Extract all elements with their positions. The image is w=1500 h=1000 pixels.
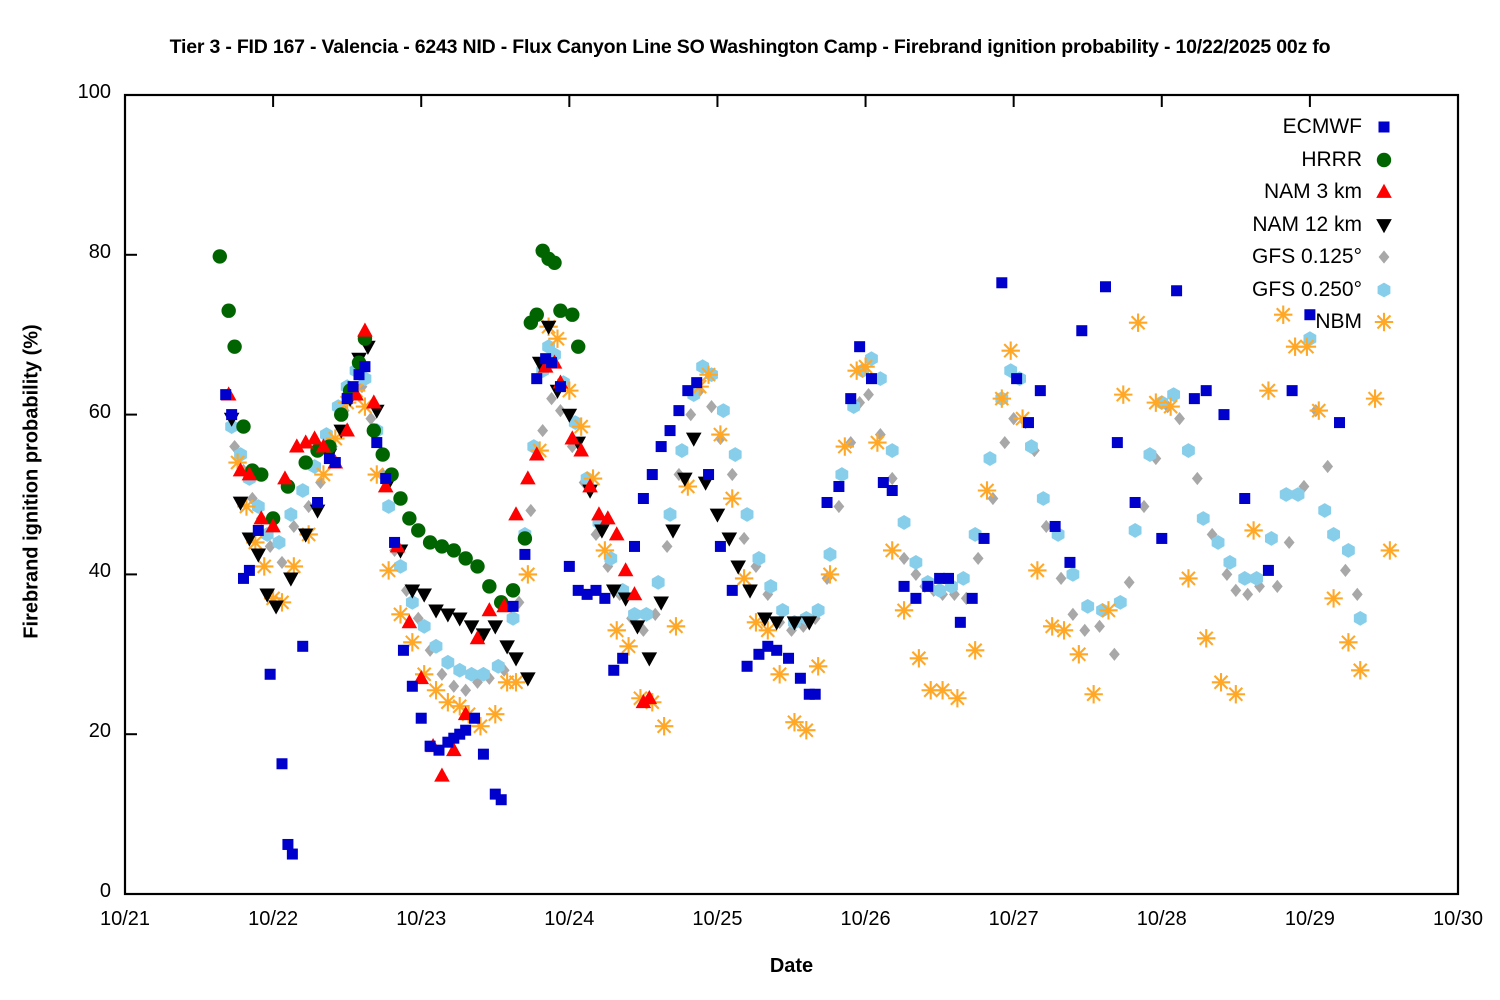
series-gfs-0-250 [225, 331, 1366, 681]
data-point [508, 652, 524, 666]
data-point [1094, 620, 1105, 633]
data-point [452, 612, 468, 626]
data-point [856, 357, 874, 375]
legend-label: HRRR [1301, 145, 1362, 175]
data-point [220, 389, 231, 400]
data-point [221, 304, 235, 318]
data-point [1084, 685, 1102, 703]
data-point [795, 673, 806, 684]
data-point [640, 607, 653, 622]
data-point [380, 473, 391, 484]
data-point [1070, 645, 1088, 663]
data-point [571, 339, 585, 353]
data-point [715, 541, 726, 552]
data-point [1265, 531, 1278, 546]
data-point [1340, 564, 1351, 577]
data-point [1129, 523, 1142, 538]
data-point [1147, 393, 1165, 411]
data-point [478, 749, 489, 760]
data-point [996, 277, 1007, 288]
scatter-plot [0, 0, 1500, 1000]
data-point [1322, 460, 1333, 473]
data-point [525, 504, 536, 517]
data-point [564, 561, 575, 572]
data-point [652, 575, 665, 590]
data-point [382, 499, 395, 514]
data-point [1366, 389, 1384, 407]
diamond-icon [1372, 242, 1396, 272]
data-point [1298, 337, 1316, 355]
x-tick-label: 10/25 [657, 908, 777, 931]
data-point [1324, 589, 1342, 607]
data-point [966, 641, 984, 659]
data-point [943, 573, 954, 584]
data-point [898, 515, 911, 530]
data-point [1218, 409, 1229, 420]
data-point [1067, 608, 1078, 621]
x-tick-label: 10/21 [65, 908, 185, 931]
data-point [910, 649, 928, 667]
data-point [833, 500, 844, 513]
data-point [1238, 571, 1251, 586]
data-point [1035, 385, 1046, 396]
y-tick-label: 20 [21, 720, 111, 743]
data-point [508, 506, 524, 520]
data-point [1023, 417, 1034, 428]
data-point [1284, 536, 1295, 549]
data-point [1037, 491, 1050, 506]
data-point [1334, 417, 1345, 428]
data-point [608, 665, 619, 676]
data-point [717, 403, 730, 418]
data-point [379, 561, 397, 579]
data-point [638, 493, 649, 504]
data-point [482, 579, 496, 593]
data-point [458, 551, 472, 565]
data-point [1050, 521, 1061, 532]
data-point [367, 423, 381, 437]
data-point [948, 689, 966, 707]
data-point [487, 620, 503, 634]
y-tick-label: 60 [21, 401, 111, 424]
data-point [537, 424, 548, 437]
y-tick-label: 40 [21, 560, 111, 583]
data-point [1156, 533, 1167, 544]
data-point [1197, 629, 1215, 647]
legend-label: NAM 12 km [1252, 210, 1362, 240]
data-point [447, 543, 461, 557]
data-point [978, 481, 996, 499]
data-point [402, 511, 416, 525]
data-point [555, 381, 566, 392]
data-point [519, 565, 537, 583]
data-point [821, 565, 839, 583]
data-point [1129, 314, 1147, 332]
data-point [1227, 685, 1245, 703]
x-tick-label: 10/30 [1398, 908, 1500, 931]
data-point [629, 541, 640, 552]
y-tick-label: 100 [21, 81, 111, 104]
data-point [922, 581, 933, 592]
data-point [665, 525, 681, 539]
data-point [665, 425, 676, 436]
data-point [609, 526, 625, 540]
data-point [706, 400, 717, 413]
data-point [1114, 385, 1132, 403]
data-point [822, 497, 833, 508]
asterisk-icon [1372, 307, 1396, 337]
data-point [1099, 601, 1117, 619]
data-point [1002, 341, 1020, 359]
data-point [1222, 568, 1233, 581]
data-point [1381, 541, 1399, 559]
data-point [357, 323, 373, 337]
data-point [899, 552, 910, 565]
data-point [1161, 397, 1179, 415]
data-point [284, 507, 297, 522]
data-point [1067, 567, 1080, 582]
data-point [1109, 648, 1120, 661]
data-point [1079, 624, 1090, 637]
data-point [824, 547, 837, 562]
data-point [334, 407, 348, 421]
y-tick-label: 80 [21, 241, 111, 264]
data-point [277, 470, 293, 484]
data-point [1114, 595, 1127, 610]
data-point [973, 552, 984, 565]
data-point [330, 457, 341, 468]
data-point [348, 381, 359, 392]
data-point [226, 409, 237, 420]
data-point [1244, 521, 1262, 539]
x-tick-label: 10/29 [1250, 908, 1370, 931]
data-point [741, 507, 754, 522]
data-point [1201, 385, 1212, 396]
data-point [596, 541, 614, 559]
data-point [547, 256, 561, 270]
data-point [1197, 511, 1210, 526]
data-point [1011, 373, 1022, 384]
data-point [656, 441, 667, 452]
data-point [711, 425, 729, 443]
data-point [1263, 565, 1274, 576]
data-point [833, 481, 844, 492]
y-tick-label: 0 [21, 880, 111, 903]
data-point [739, 532, 750, 545]
data-point [508, 601, 519, 612]
data-point [1327, 527, 1340, 542]
data-point [783, 653, 794, 664]
data-point [441, 655, 454, 670]
data-point [675, 443, 688, 458]
data-point [1259, 381, 1277, 399]
data-point [470, 559, 484, 573]
data-point [1112, 437, 1123, 448]
data-point [662, 540, 673, 553]
data-point [835, 467, 848, 482]
data-point [407, 681, 418, 692]
data-point [710, 509, 726, 523]
data-point [703, 469, 714, 480]
x-tick-label: 10/24 [509, 908, 629, 931]
data-point [727, 585, 738, 596]
data-point [1212, 673, 1230, 691]
data-point [518, 531, 532, 545]
data-point [797, 721, 815, 739]
data-point [520, 672, 536, 686]
data-point [519, 549, 530, 560]
data-point [899, 581, 910, 592]
data-point [244, 565, 255, 576]
data-point [866, 373, 877, 384]
data-point [393, 491, 407, 505]
data-point [394, 559, 407, 574]
data-point [507, 611, 520, 626]
data-point [771, 645, 782, 656]
data-point [1189, 393, 1200, 404]
data-point [312, 497, 323, 508]
data-point [845, 393, 856, 404]
data-point [411, 523, 425, 537]
data-point [742, 661, 753, 672]
data-point [283, 572, 299, 586]
data-point [967, 593, 978, 604]
data-point [296, 483, 309, 498]
data-point [910, 555, 923, 570]
legend-label: GFS 0.250° [1252, 275, 1362, 305]
data-point [1287, 385, 1298, 396]
data-point [993, 389, 1011, 407]
data-point [546, 357, 557, 368]
data-point [530, 308, 544, 322]
data-point [723, 489, 741, 507]
data-point [434, 768, 450, 782]
data-point [1242, 588, 1253, 601]
data-point [599, 593, 610, 604]
data-point [863, 388, 874, 401]
data-point [785, 713, 803, 731]
data-point [520, 470, 536, 484]
data-point [617, 653, 628, 664]
data-point [227, 339, 241, 353]
data-point [548, 329, 566, 347]
data-point [1192, 472, 1203, 485]
data-point [809, 657, 827, 675]
data-point [359, 361, 370, 372]
data-point [667, 617, 685, 635]
data-point [1351, 661, 1369, 679]
circle-icon [1372, 145, 1396, 175]
data-point [288, 520, 299, 533]
data-point [276, 758, 287, 769]
data-point [1130, 497, 1141, 508]
data-point [460, 684, 471, 697]
data-point [1056, 572, 1067, 585]
triangle-down-icon [1372, 210, 1396, 240]
data-point [565, 308, 579, 322]
data-point [957, 571, 970, 586]
data-point [655, 717, 673, 735]
data-point [886, 443, 899, 458]
data-point [1064, 557, 1075, 568]
data-point [673, 405, 684, 416]
data-point [1239, 493, 1250, 504]
legend-label: NBM [1315, 307, 1362, 337]
data-point [428, 604, 444, 618]
data-point [1100, 281, 1111, 292]
legend-label: GFS 0.125° [1252, 242, 1362, 272]
data-point [955, 617, 966, 628]
data-point [1352, 588, 1363, 601]
data-point [398, 645, 409, 656]
x-tick-label: 10/28 [1102, 908, 1222, 931]
data-point [685, 408, 696, 421]
data-point [776, 603, 789, 618]
data-point [366, 394, 382, 408]
data-points-layer [213, 244, 1399, 860]
data-point [506, 583, 520, 597]
data-point [437, 668, 448, 681]
data-point [1081, 599, 1094, 614]
data-point [1272, 580, 1283, 593]
square-icon [1372, 112, 1396, 142]
data-point [572, 417, 590, 435]
legend-label: ECMWF [1283, 112, 1362, 142]
data-point [265, 669, 276, 680]
data-point [933, 681, 951, 699]
data-point [1182, 443, 1195, 458]
data-point [1342, 543, 1355, 558]
data-point [486, 705, 504, 723]
data-point [297, 641, 308, 652]
data-point [887, 485, 898, 496]
x-tick-label: 10/27 [954, 908, 1074, 931]
hexagon-icon [1372, 275, 1396, 305]
data-point [727, 468, 738, 481]
data-point [984, 451, 997, 466]
data-point [1076, 325, 1087, 336]
data-point [810, 689, 821, 700]
data-point [469, 713, 480, 724]
data-point [618, 562, 634, 576]
data-point [770, 665, 788, 683]
data-point [253, 525, 264, 536]
data-point [213, 249, 227, 263]
data-point [1224, 555, 1237, 570]
data-point [448, 680, 459, 693]
data-point [460, 725, 471, 736]
data-point [376, 447, 390, 461]
data-point [1274, 306, 1292, 324]
data-point [686, 433, 702, 447]
data-point [868, 433, 886, 451]
data-point [619, 637, 637, 655]
x-tick-label: 10/22 [213, 908, 333, 931]
data-point [1055, 621, 1073, 639]
data-point [742, 584, 758, 598]
data-point [1230, 584, 1241, 597]
data-point [647, 469, 658, 480]
x-tick-label: 10/26 [806, 908, 926, 931]
data-point [854, 341, 865, 352]
data-point [729, 447, 742, 462]
data-point [883, 541, 901, 559]
data-point [1124, 576, 1135, 589]
data-point [1179, 569, 1197, 587]
data-point [1304, 309, 1315, 320]
data-point [1339, 633, 1357, 651]
data-point [1171, 285, 1182, 296]
data-point [910, 593, 921, 604]
data-point [287, 849, 298, 860]
data-point [342, 393, 353, 404]
data-point [453, 663, 466, 678]
data-point [389, 537, 400, 548]
legend-label: NAM 3 km [1264, 177, 1362, 207]
data-point [642, 652, 658, 666]
data-point [236, 419, 250, 433]
triangle-up-icon [1372, 177, 1396, 207]
data-point [371, 437, 382, 448]
data-point [496, 794, 507, 805]
data-point [1280, 487, 1293, 502]
data-point [1028, 561, 1046, 579]
data-point [691, 377, 702, 388]
data-point [608, 621, 626, 639]
data-point [1167, 387, 1180, 402]
data-point [1318, 503, 1331, 518]
data-point [298, 455, 312, 469]
data-point [531, 373, 542, 384]
data-point [416, 713, 427, 724]
data-point [1354, 611, 1367, 626]
data-point [282, 839, 293, 850]
data-point [1174, 412, 1185, 425]
data-point [895, 601, 913, 619]
data-point [440, 608, 456, 622]
data-point [979, 533, 990, 544]
data-point [999, 436, 1010, 449]
data-point [836, 437, 854, 455]
data-point [1310, 401, 1328, 419]
data-point [664, 507, 677, 522]
x-tick-label: 10/23 [361, 908, 481, 931]
